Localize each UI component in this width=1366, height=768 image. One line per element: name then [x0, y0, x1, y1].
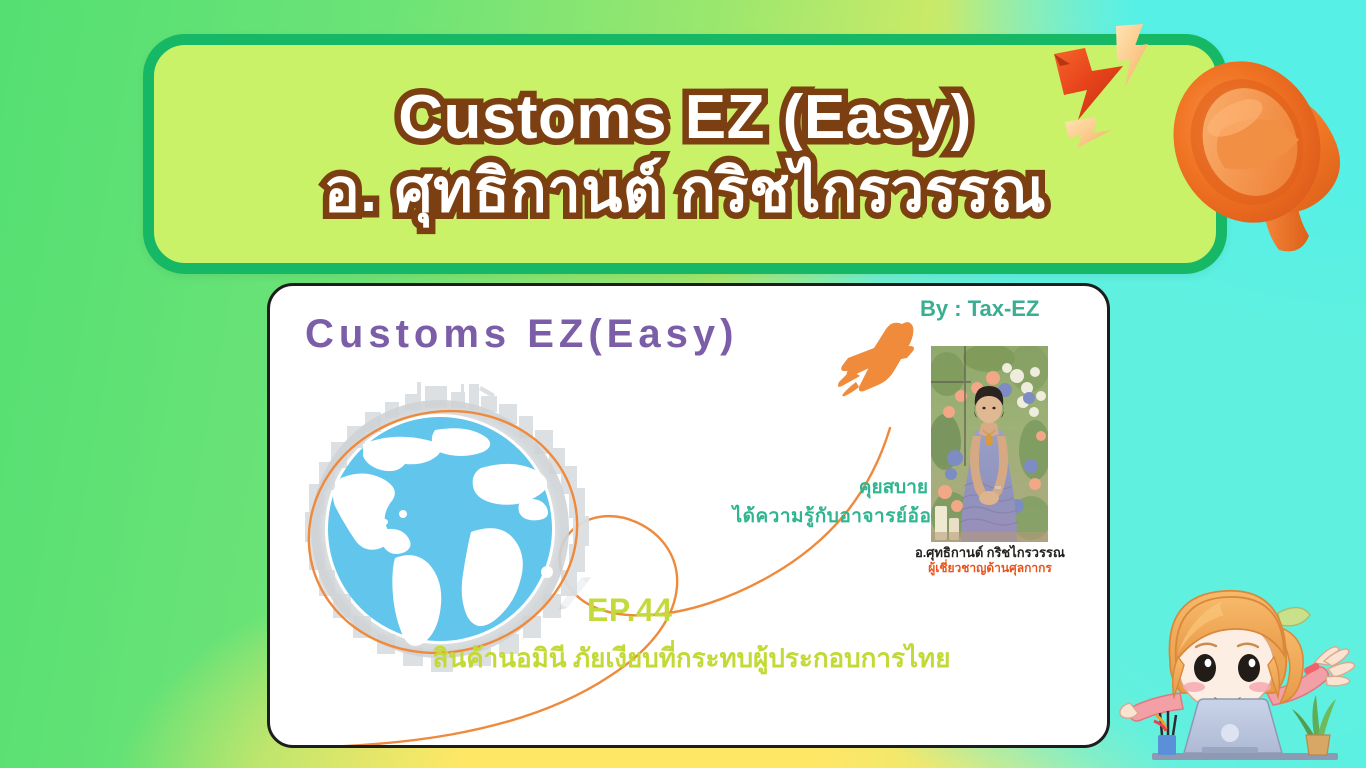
speaker-photo — [931, 346, 1048, 542]
banner-title-english: Customs EZ (Easy) — [398, 87, 972, 149]
banner-title-thai: อ. ศุทธิกานต์ กริชไกรวรรณ — [324, 161, 1047, 221]
airplane-icon — [830, 318, 945, 398]
slide-title: Customs EZ(Easy) — [305, 312, 738, 357]
globe-with-city-buildings-icon — [285, 382, 595, 682]
cartoon-girl-with-laptop-illustration — [1118, 565, 1366, 768]
speaker-photo-caption: อ.ศุทธิกานต์ กริชไกรวรรณ ผู้เชี่ยวชาญด้า… — [890, 545, 1090, 576]
episode-label: EP.44 — [587, 592, 673, 629]
megaphone-icon — [1155, 30, 1366, 260]
tagline-line-2: ได้ความรู้กับอาจารย์อ้อย — [553, 503, 943, 532]
speaker-role: ผู้เชี่ยวชาญด้านศุลกากร — [890, 561, 1090, 576]
lightning-bolt-icon — [1065, 117, 1112, 148]
tagline-line-1: คุยสบาย ๆ — [553, 474, 943, 503]
speaker-photo-image — [931, 346, 1048, 542]
lightning-bolt-icon — [1054, 48, 1123, 120]
by-label: By : Tax-EZ — [920, 296, 1039, 322]
lightning-bolt-icon — [1116, 24, 1148, 87]
speaker-name: อ.ศุทธิกานต์ กริชไกรวรรณ — [890, 545, 1090, 561]
tagline-block: คุยสบาย ๆ ได้ความรู้กับอาจารย์อ้อย — [553, 474, 943, 531]
presentation-slide-card: Customs EZ(Easy) By : Tax-EZ — [267, 283, 1110, 748]
slide-subtitle: สินค้านอมินี ภัยเงียบที่กระทบผู้ประกอบกา… — [270, 638, 1110, 679]
